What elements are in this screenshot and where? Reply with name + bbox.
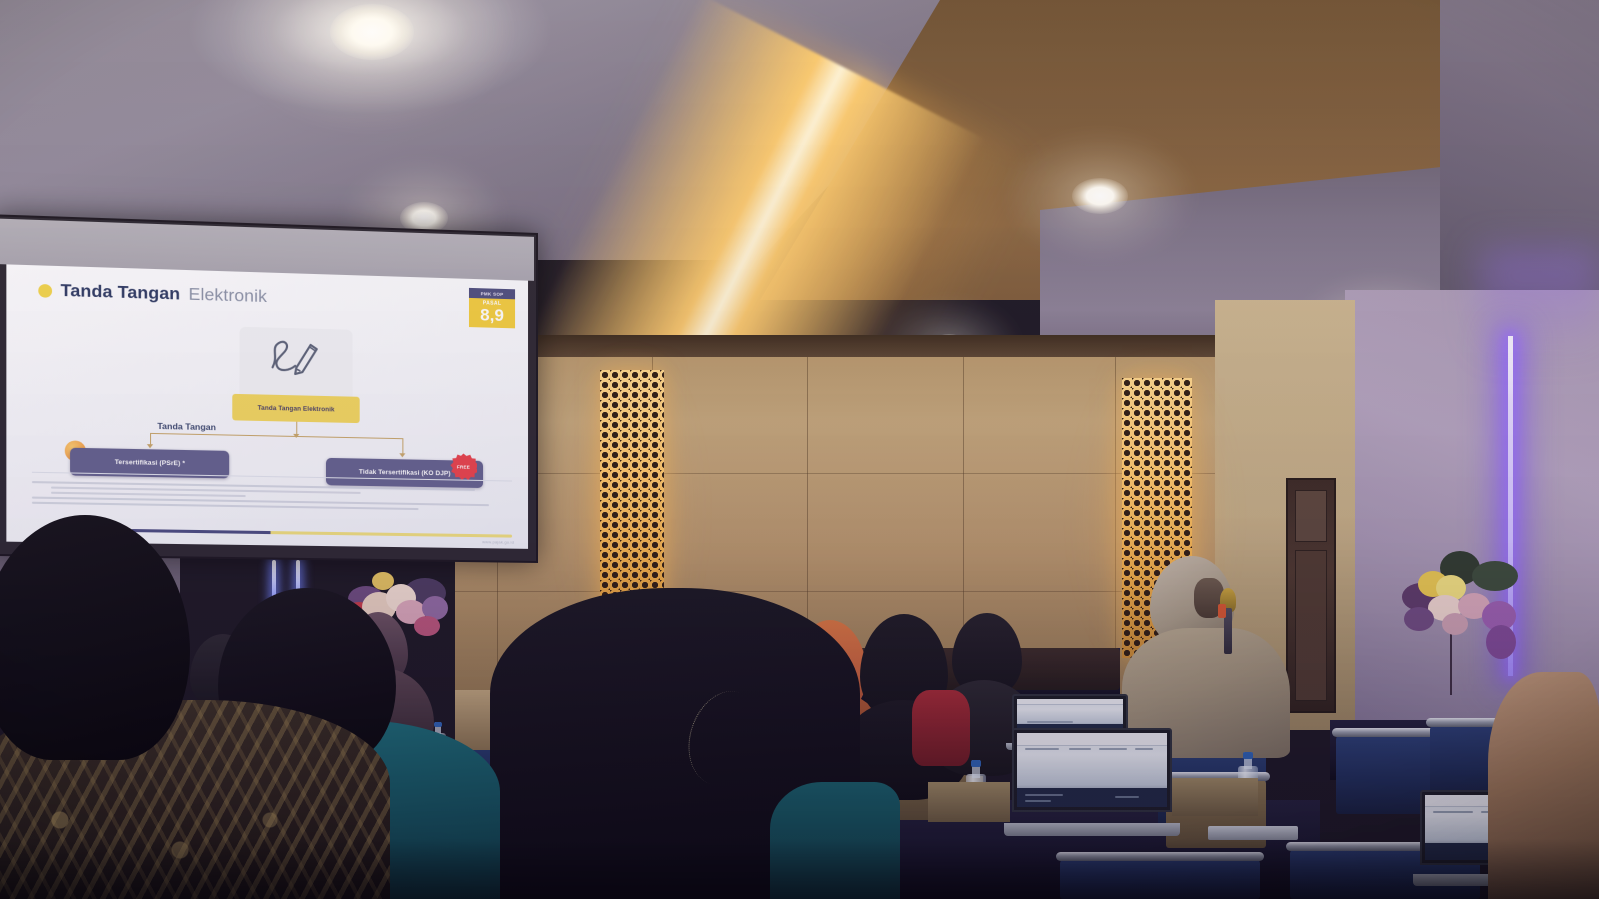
seminar-room-photo: Tanda Tangan Elektronik PMK SOP PASAL 8,…: [0, 0, 1599, 899]
diagram-branch-label: Tanda Tangan: [157, 421, 216, 432]
badge-body: PASAL 8,9: [469, 298, 515, 328]
progress-filled: [131, 529, 270, 534]
slide-progress-bar: [131, 529, 512, 538]
presentation-slide: Tanda Tangan Elektronik PMK SOP PASAL 8,…: [6, 264, 528, 548]
signature-pen-icon: [268, 334, 323, 380]
laptop[interactable]: [1012, 728, 1172, 836]
progress-remaining: [270, 531, 512, 538]
slide-diagram: Tanda Tangan Elektronik Tanda Tangan Ter…: [6, 314, 528, 474]
slide-title: Tanda Tangan Elektronik: [38, 280, 267, 307]
projector-screen: Tanda Tangan Elektronik PMK SOP PASAL 8,…: [0, 214, 538, 563]
browser-toolbar: [1017, 733, 1167, 746]
pasal-badge: PMK SOP PASAL 8,9: [469, 288, 515, 328]
badge-number: 8,9: [469, 306, 515, 324]
speaker: [1122, 556, 1290, 756]
flower-arrangement-right: [1382, 545, 1522, 695]
foreground-shadow: [0, 839, 1599, 899]
slide-title-light: Elektronik: [189, 284, 267, 307]
laptop-lid: [1012, 728, 1172, 812]
slide-url: www.pajak.go.id: [482, 539, 514, 544]
diagram-top-label: Tanda Tangan Elektronik: [232, 394, 359, 423]
title-bullet-icon: [38, 283, 52, 297]
mic-band: [1218, 604, 1226, 618]
browser-toolbar: [1017, 699, 1123, 705]
purple-ceiling-wash: [1480, 250, 1599, 360]
screen-lower-band: [1017, 788, 1167, 807]
tissue-box: [928, 782, 1010, 822]
door-upper-glass: [1295, 490, 1327, 542]
laptop-screen: [1017, 733, 1167, 807]
door[interactable]: [1286, 478, 1336, 713]
phone-on-table[interactable]: [1208, 826, 1298, 840]
slide-title-bold: Tanda Tangan: [61, 281, 181, 305]
laptop-base: [1004, 823, 1180, 836]
microphone[interactable]: [1220, 588, 1236, 654]
attendee-red-top: [912, 690, 970, 766]
tissue-box: [1172, 778, 1258, 816]
door-lower-glass: [1295, 550, 1327, 701]
